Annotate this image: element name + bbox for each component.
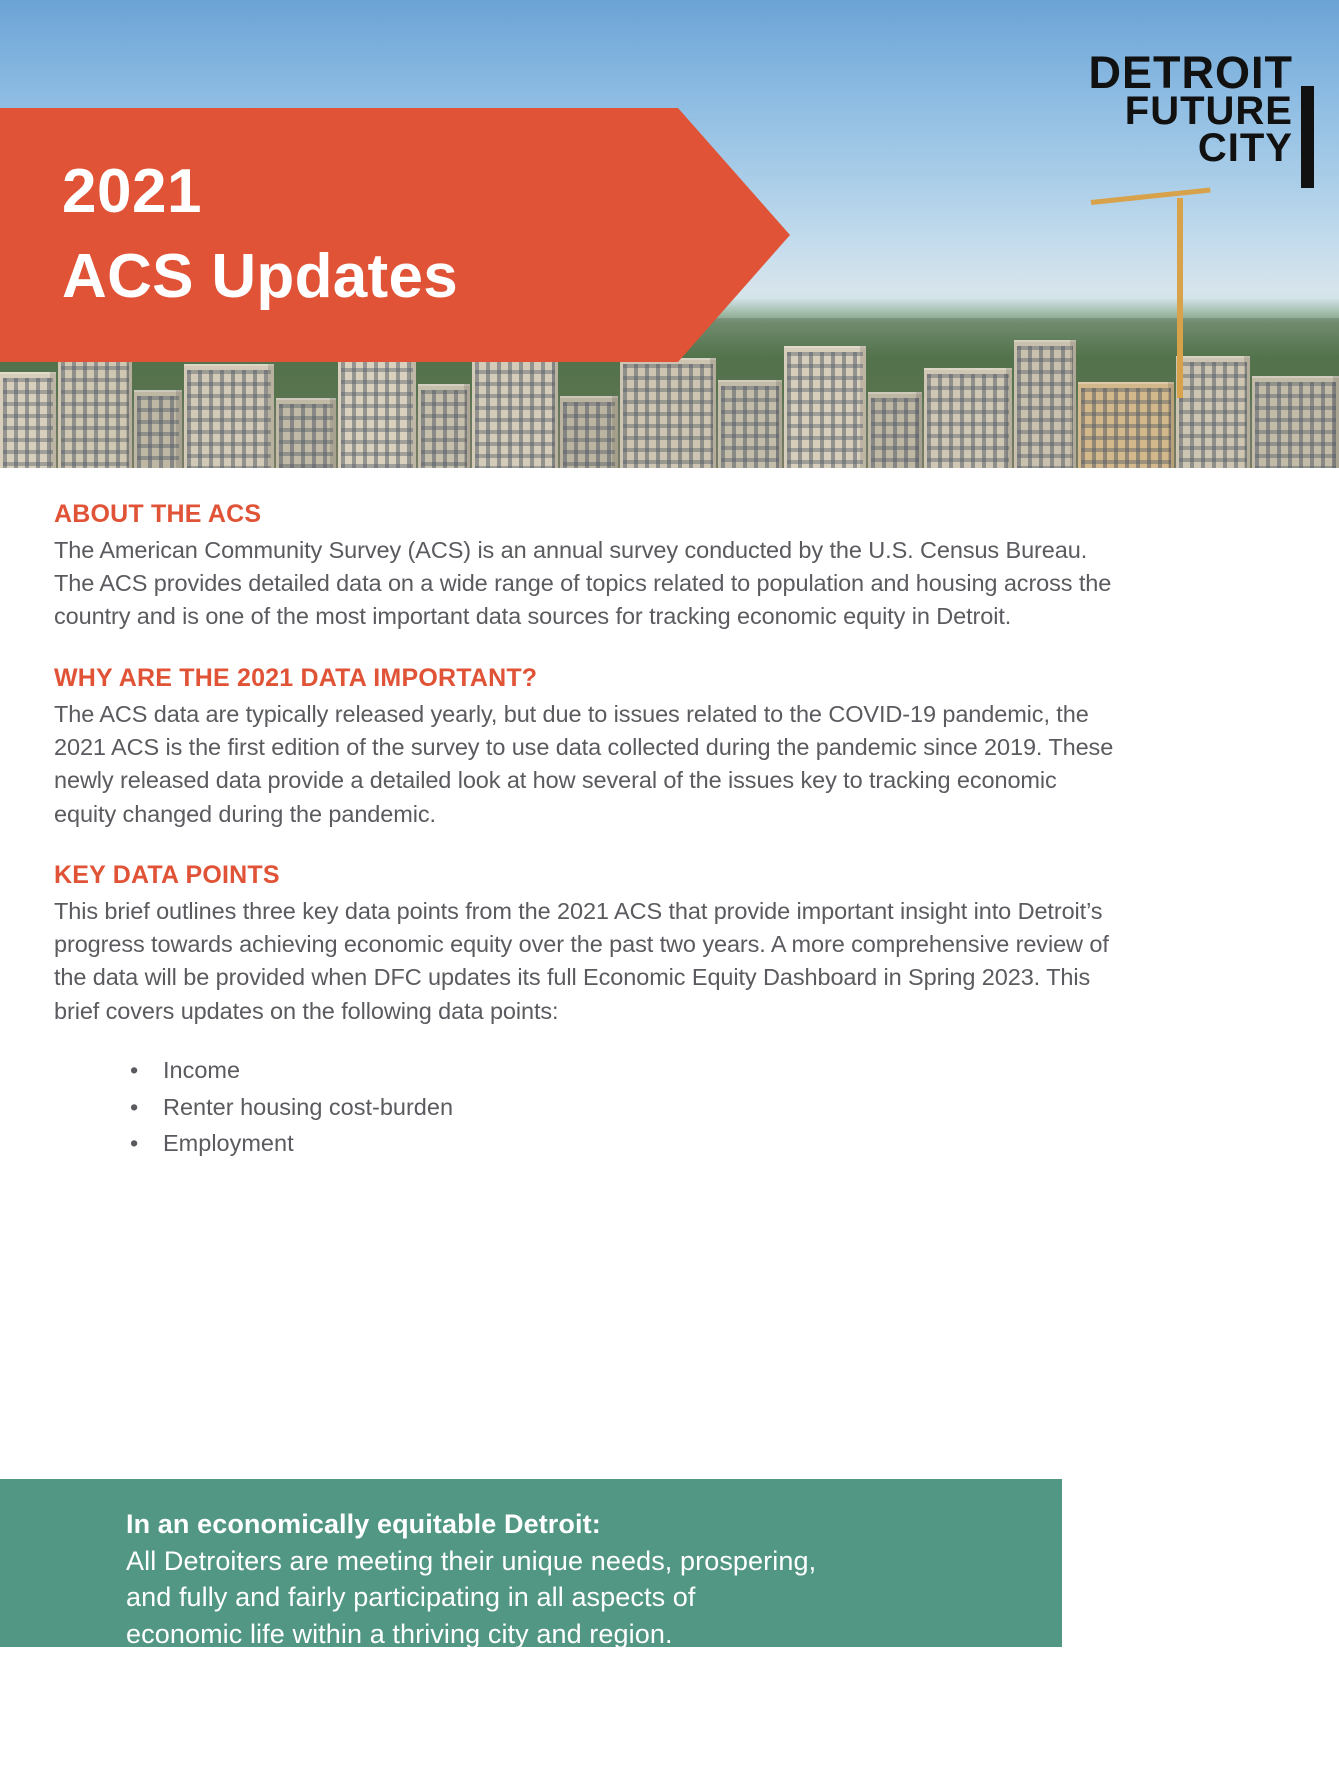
section-heading: KEY DATA POINTS: [54, 861, 1116, 890]
building-under-construction: [1078, 382, 1174, 468]
building: [1014, 340, 1076, 468]
banner-year: 2021: [62, 159, 790, 224]
section-heading: WHY ARE THE 2021 DATA IMPORTANT?: [54, 664, 1116, 693]
logo-line-future: FUTURE: [1089, 93, 1294, 130]
building: [560, 396, 618, 468]
building: [868, 392, 922, 468]
logo-line-detroit: DETROIT: [1089, 52, 1294, 93]
title-banner: 2021 ACS Updates: [0, 108, 790, 362]
building: [0, 372, 56, 468]
document-page: 2021 ACS Updates DETROIT FUTURE CITY ABO…: [0, 0, 1339, 1792]
crane-mast: [1177, 198, 1183, 398]
building: [418, 384, 470, 468]
main-content: ABOUT THE ACS The American Community Sur…: [54, 500, 1116, 1190]
list-item-label: Income: [163, 1057, 240, 1083]
section-body: This brief outlines three key data point…: [54, 895, 1116, 1028]
section-body: The American Community Survey (ACS) is a…: [54, 534, 1116, 634]
section-about-the-acs: ABOUT THE ACS The American Community Sur…: [54, 500, 1116, 634]
building: [718, 380, 782, 468]
building: [134, 390, 182, 468]
list-item: • Employment: [130, 1127, 1116, 1160]
callout-line-3: economic life within a thriving city and…: [126, 1616, 1032, 1652]
callout-line-2: and fully and fairly participating in al…: [126, 1579, 1032, 1615]
list-item-label: Employment: [163, 1130, 294, 1156]
detroit-future-city-logo: DETROIT FUTURE CITY: [1059, 52, 1314, 190]
building: [620, 358, 716, 468]
logo-line-city: CITY: [1089, 130, 1294, 167]
building: [184, 364, 274, 468]
logo-bar-icon: [1301, 86, 1314, 188]
section-heading: ABOUT THE ACS: [54, 500, 1116, 529]
list-item: • Renter housing cost-burden: [130, 1091, 1116, 1124]
bullet-dot-icon: •: [130, 1091, 138, 1124]
building: [338, 350, 416, 468]
callout-line-1: All Detroiters are meeting their unique …: [126, 1543, 1032, 1579]
section-body: The ACS data are typically released year…: [54, 698, 1116, 831]
list-item: • Income: [130, 1054, 1116, 1087]
section-why-2021-data-important: WHY ARE THE 2021 DATA IMPORTANT? The ACS…: [54, 664, 1116, 831]
building: [58, 348, 132, 468]
building: [924, 368, 1012, 468]
building: [1176, 356, 1250, 468]
key-data-points-list: • Income • Renter housing cost-burden • …: [130, 1054, 1116, 1160]
section-key-data-points: KEY DATA POINTS This brief outlines thre…: [54, 861, 1116, 1160]
building: [1252, 376, 1339, 468]
callout-lead: In an economically equitable Detroit:: [126, 1507, 1032, 1543]
bullet-dot-icon: •: [130, 1054, 138, 1087]
building: [784, 346, 866, 468]
hero-banner-image: 2021 ACS Updates DETROIT FUTURE CITY: [0, 0, 1339, 468]
banner-title: ACS Updates: [62, 242, 790, 311]
list-item-label: Renter housing cost-burden: [163, 1094, 453, 1120]
equity-vision-callout: In an economically equitable Detroit: Al…: [0, 1479, 1062, 1647]
building: [276, 398, 336, 468]
bullet-dot-icon: •: [130, 1127, 138, 1160]
